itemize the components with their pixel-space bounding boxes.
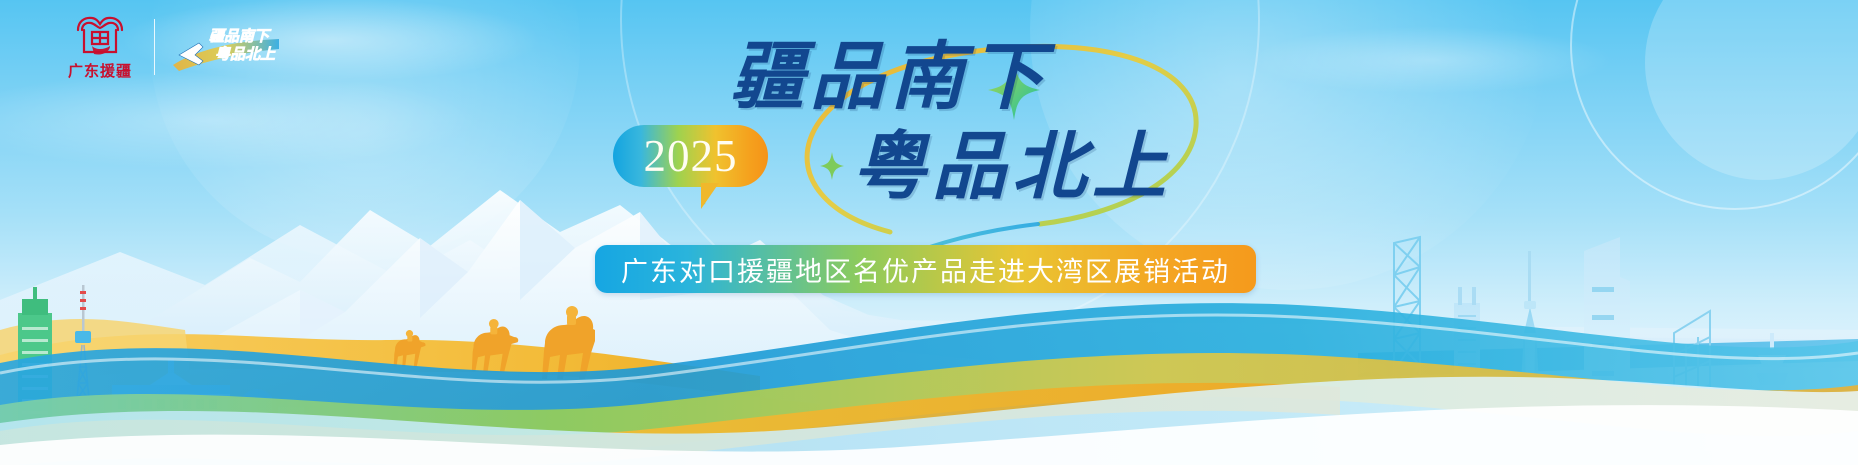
campaign-logo-line1: 疆品南下 [209,28,272,45]
campaign-logo-art: 疆品南下 粤品北上 [169,21,281,73]
title-line-2: 粤品北上 [852,128,1300,206]
guangdong-emblem-icon [70,12,130,58]
guangdong-logo-text: 广东援疆 [68,60,132,81]
subtitle-text: 广东对口援疆地区名优产品走进大湾区展销活动 [621,250,1230,289]
promo-banner: 广东援疆 [0,0,1858,465]
campaign-logo-line2: 粤品北上 [215,45,276,63]
year-badge-body: 2025 [613,125,768,187]
logo-divider [154,19,155,75]
year-badge: 2025 [613,125,768,187]
campaign-logo[interactable]: 疆品南下 粤品北上 [169,21,281,73]
title-line-1: 疆品南下 [730,38,1300,116]
guangdong-aid-xinjiang-logo[interactable]: 广东援疆 [60,12,140,81]
year-badge-tail [701,183,719,209]
year-badge-text: 2025 [644,134,738,179]
subtitle-bar: 广东对口援疆地区名优产品走进大湾区展销活动 [595,245,1256,293]
logo-group: 广东援疆 [60,12,281,81]
main-title: 疆品南下 粤品北上 [740,38,1300,206]
